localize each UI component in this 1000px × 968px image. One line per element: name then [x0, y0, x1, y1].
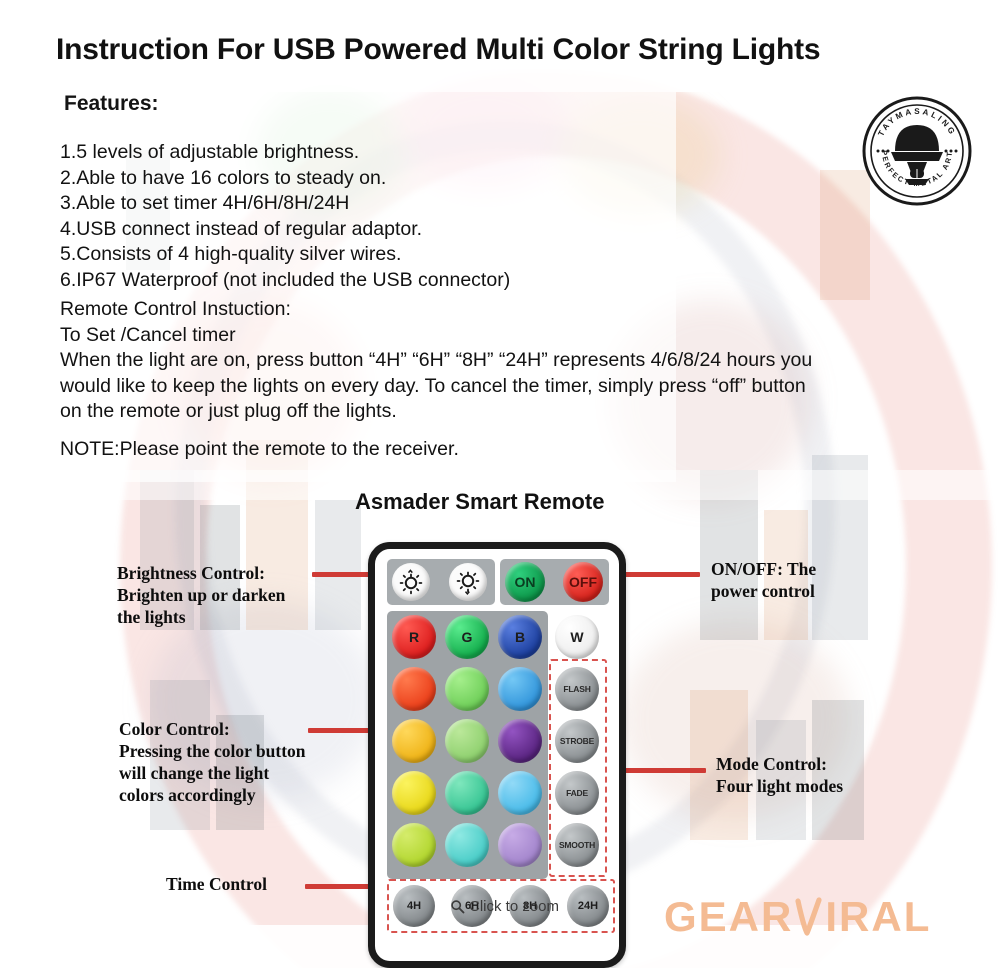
magnifier-icon	[450, 899, 465, 914]
callout-onoff-control: ON/OFF: The power control	[711, 558, 816, 602]
color-label: R	[409, 629, 419, 645]
callout-color-control: Color Control: Pressing the color button…	[119, 718, 306, 806]
callout-line: Brighten up or darken	[117, 584, 285, 606]
feature-item: 4.USB connect instead of regular adaptor…	[60, 217, 680, 243]
color-button-2-1[interactable]	[392, 667, 436, 711]
callout-line: Pressing the color button	[119, 740, 306, 762]
color-button-2-3[interactable]	[498, 667, 542, 711]
color-button-white[interactable]: W	[555, 615, 599, 659]
brand-badge-logo: TAYMASALING PERFECT METAL ART	[861, 95, 973, 207]
callout-line: colors accordingly	[119, 784, 306, 806]
feature-item: 3.Able to set timer 4H/6H/8H/24H	[60, 191, 680, 217]
color-button-red[interactable]: R	[392, 615, 436, 659]
callout-brightness-control: Brightness Control: Brighten up or darke…	[117, 562, 285, 628]
color-button-2-2[interactable]	[445, 667, 489, 711]
leader-line-mode	[612, 768, 706, 773]
watermark-part-1: GEAR	[664, 893, 793, 941]
callout-line: will change the light	[119, 762, 306, 784]
instruction-body-line: When the light are on, press button “4H”…	[60, 348, 950, 374]
leader-line-onoff	[614, 572, 700, 577]
color-button-3-1[interactable]	[392, 719, 436, 763]
click-to-zoom-overlay[interactable]: Click to zoom	[450, 898, 559, 915]
gearviral-watermark: GEAR IRAL	[664, 893, 931, 941]
color-button-5-3[interactable]	[498, 823, 542, 867]
instruction-sheet: Instruction For USB Powered Multi Color …	[0, 0, 1000, 968]
instruction-body-line: on the remote or just plug off the light…	[60, 399, 950, 425]
instruction-subheading: To Set /Cancel timer	[60, 323, 950, 349]
brightness-down-icon	[455, 569, 481, 595]
bg-building	[812, 455, 868, 640]
feature-item: 2.Able to have 16 colors to steady on.	[60, 166, 680, 192]
callout-mode-control: Mode Control: Four light modes	[716, 753, 843, 797]
color-button-5-1[interactable]	[392, 823, 436, 867]
color-label: G	[462, 629, 473, 645]
feature-item: 5.Consists of 4 high-quality silver wire…	[60, 242, 680, 268]
page-title: Instruction For USB Powered Multi Color …	[56, 33, 820, 67]
callout-line: Brightness Control:	[117, 562, 285, 584]
color-button-3-3[interactable]	[498, 719, 542, 763]
power-off-button[interactable]: OFF	[563, 562, 603, 602]
power-on-button[interactable]: ON	[505, 562, 545, 602]
brightness-down-button[interactable]	[449, 563, 487, 601]
callout-line: Color Control:	[119, 718, 306, 740]
color-button-green[interactable]: G	[445, 615, 489, 659]
callout-line: the lights	[117, 606, 285, 628]
brightness-up-icon	[398, 569, 424, 595]
features-heading: Features:	[64, 92, 159, 116]
bg-building	[700, 470, 758, 640]
click-to-zoom-label: Click to zoom	[469, 898, 559, 915]
watermark-check-icon	[794, 895, 824, 939]
power-on-label: ON	[515, 574, 536, 590]
bg-building	[315, 500, 361, 630]
power-off-label: OFF	[569, 574, 597, 590]
callout-line: Four light modes	[716, 775, 843, 797]
brightness-up-button[interactable]	[392, 563, 430, 601]
callout-time-control: Time Control	[166, 873, 267, 895]
color-button-4-2[interactable]	[445, 771, 489, 815]
features-list: 1.5 levels of adjustable brightness. 2.A…	[60, 140, 680, 293]
feature-item: 1.5 levels of adjustable brightness.	[60, 140, 680, 166]
color-button-blue[interactable]: B	[498, 615, 542, 659]
callout-line: Mode Control:	[716, 753, 843, 775]
color-button-4-3[interactable]	[498, 771, 542, 815]
badge-svg: TAYMASALING PERFECT METAL ART	[861, 95, 973, 207]
feature-item: 6.IP67 Waterproof (not included the USB …	[60, 268, 680, 294]
remote-control-instruction: Remote Control Instuction: To Set /Cance…	[60, 297, 950, 425]
callout-line: Time Control	[166, 873, 267, 895]
callout-line: ON/OFF: The	[711, 558, 816, 580]
instruction-heading: Remote Control Instuction:	[60, 297, 950, 323]
remote-diagram-title: Asmader Smart Remote	[355, 489, 604, 515]
color-button-4-1[interactable]	[392, 771, 436, 815]
instruction-body-line: would like to keep the lights on every d…	[60, 374, 950, 400]
callout-line: power control	[711, 580, 816, 602]
check-v-icon	[794, 895, 824, 941]
note-text: NOTE:Please point the remote to the rece…	[60, 437, 459, 463]
color-button-5-2[interactable]	[445, 823, 489, 867]
mode-highlight-box	[549, 659, 607, 877]
watermark-part-2: IRAL	[825, 893, 931, 941]
color-label: B	[515, 629, 525, 645]
color-label: W	[570, 629, 583, 645]
color-button-3-2[interactable]	[445, 719, 489, 763]
